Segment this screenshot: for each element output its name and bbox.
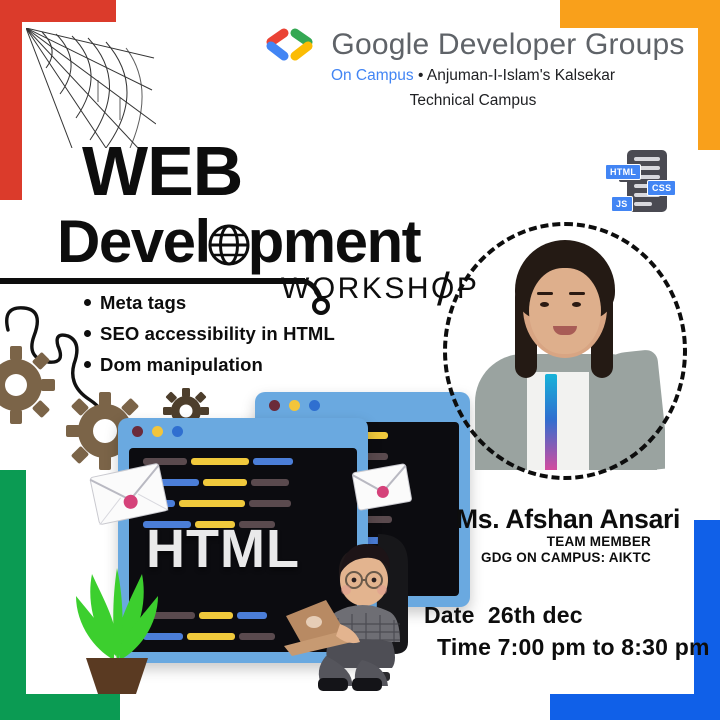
- title-underline: [0, 278, 305, 284]
- gdg-logo-icon: [261, 28, 319, 62]
- window-dot-blue: [309, 400, 320, 411]
- list-item: Meta tags: [84, 292, 335, 314]
- page-title-line-2: Devel pment: [57, 212, 420, 272]
- spider-web-icon: [26, 28, 156, 148]
- bullet-icon: [84, 299, 91, 306]
- window-dot-yellow: [289, 400, 300, 411]
- title-suffix: pment: [248, 212, 421, 272]
- date-value: 26th dec: [488, 602, 583, 628]
- gear-icon: [0, 330, 62, 440]
- envelope-icon: [348, 457, 416, 517]
- page-title-line-1: WEB: [82, 136, 242, 206]
- topic-label: Dom manipulation: [100, 354, 263, 375]
- event-time: Time 7:00 pm to 8:30 pm: [437, 634, 710, 661]
- topic-label: Meta tags: [100, 292, 186, 313]
- time-label: Time: [437, 634, 491, 660]
- time-value: 7:00 pm to 8:30 pm: [498, 634, 710, 660]
- window-dot-yellow: [152, 426, 163, 437]
- tag-css: CSS: [647, 180, 676, 196]
- gdg-oncampus-label: On Campus: [331, 67, 414, 84]
- window-dot-red: [132, 426, 143, 437]
- window-dot-red: [269, 400, 280, 411]
- photo-dashed-ring: [443, 222, 687, 480]
- speaker-photo: [443, 222, 687, 480]
- gdg-separator: •: [418, 67, 423, 84]
- window-titlebar: [255, 392, 470, 418]
- globe-icon: [208, 224, 250, 266]
- tech-stack-badge: HTML CSS JS: [605, 148, 687, 216]
- speaker-role: TEAM MEMBER: [547, 534, 651, 549]
- list-item: SEO accessibility in HTML: [84, 323, 335, 345]
- potted-plant-icon: [56, 556, 178, 696]
- gdg-header: Google Developer Groups On Campus • Anju…: [258, 28, 688, 112]
- event-poster: Google Developer Groups On Campus • Anju…: [0, 0, 720, 720]
- gdg-brand-text: Google Developer Groups: [331, 28, 684, 62]
- date-label: Date: [424, 602, 475, 628]
- tag-js: JS: [611, 196, 633, 212]
- gdg-chapter-name: Anjuman-I-Islam's Kalsekar: [427, 67, 615, 84]
- bullet-icon: [84, 330, 91, 337]
- list-item: Dom manipulation: [84, 354, 335, 376]
- speaker-name: Ms. Afshan Ansari: [456, 504, 680, 535]
- speaker-organization: GDG ON CAMPUS: AIKTC: [481, 550, 651, 565]
- gdg-chapter-line-2: Technical Campus: [258, 91, 688, 112]
- window-titlebar: [118, 418, 368, 444]
- topics-list: Meta tags SEO accessibility in HTML Dom …: [84, 292, 335, 385]
- title-prefix: Devel: [57, 212, 210, 272]
- topic-label: SEO accessibility in HTML: [100, 323, 335, 344]
- tag-html: HTML: [605, 164, 641, 180]
- person-with-laptop: [282, 520, 432, 692]
- bullet-icon: [84, 361, 91, 368]
- gdg-chapter-line-1: On Campus • Anjuman-I-Islam's Kalsekar: [258, 66, 688, 87]
- window-dot-blue: [172, 426, 183, 437]
- event-date: Date 26th dec: [424, 602, 583, 629]
